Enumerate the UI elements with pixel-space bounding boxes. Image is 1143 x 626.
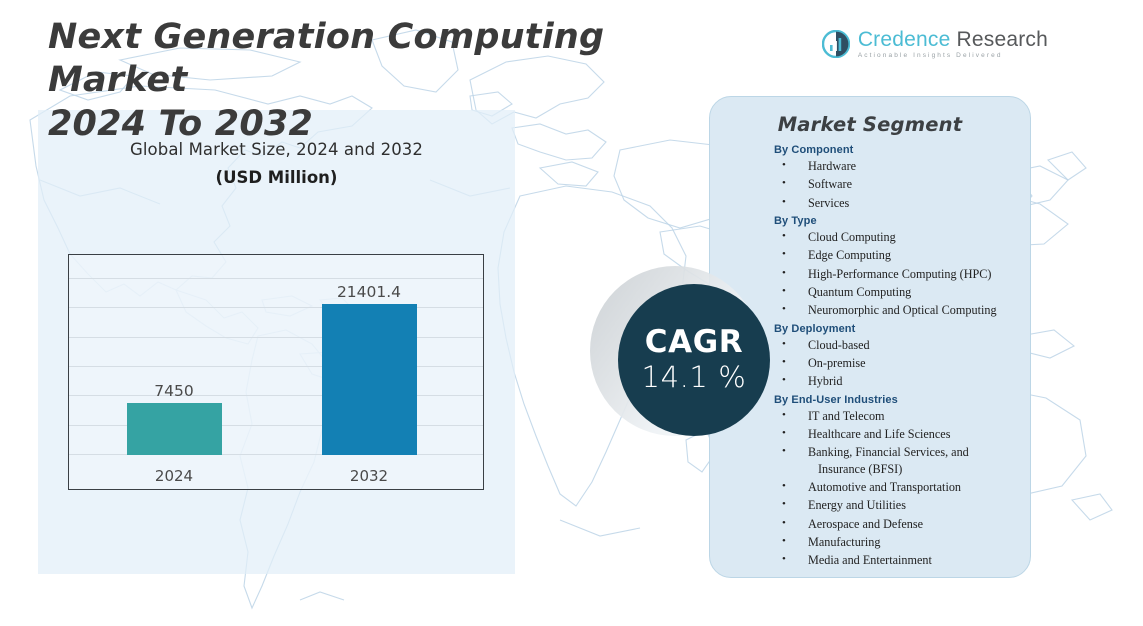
segment-group-heading: By End-User Industries [774,394,1016,406]
page-title-line-2: 2024 To 2032 [48,103,728,146]
segment-item[interactable]: Software [724,176,1016,193]
brand-name-secondary: Research [957,28,1048,51]
chart-bars: 7450202421401.42032 [69,279,483,455]
chart-bar-group: 74502024 [127,279,222,455]
segment-group-heading: By Type [774,215,1016,227]
segment-item[interactable]: Manufacturing [724,534,1016,551]
chart-category-label-2032: 2032 [292,467,447,485]
market-segment-title: Market Segment [724,113,1016,136]
chart-subtitle: (USD Million) [38,168,515,187]
segment-item[interactable]: Services [724,195,1016,212]
segment-item[interactable]: Media and Entertainment [724,552,1016,569]
brand-name-primary: Credence [858,28,951,51]
brand-name: Credence Research [858,29,1048,50]
segment-item[interactable]: Automotive and Transportation [724,479,1016,496]
segment-item[interactable]: Energy and Utilities [724,497,1016,514]
page-title-line-1: Next Generation Computing Market [48,16,728,103]
cagr-value: 14.1 % [642,360,747,394]
segment-item[interactable]: Aerospace and Defense [724,516,1016,533]
chart-bar-value-2024: 7450 [97,382,252,400]
cagr-label: CAGR [645,326,743,359]
page-title: Next Generation Computing Market 2024 To… [48,16,728,146]
chart-bar-2024 [127,403,222,455]
chart-bar-value-2032: 21401.4 [292,283,447,301]
bar-chart-circle-logo-icon [822,30,850,58]
segment-group: By ComponentHardwareSoftwareServices [724,144,1016,212]
market-size-chart-panel: Global Market Size, 2024 and 2032 (USD M… [38,110,515,574]
brand-logo-text: Credence Research Actionable Insights De… [858,29,1048,60]
cagr-circle: CAGR 14.1 % [618,284,770,436]
chart-bar-2032 [322,304,417,455]
chart-bar-group: 21401.42032 [322,279,417,455]
segment-group-heading: By Deployment [774,323,1016,335]
segment-item[interactable]: Hardware [724,158,1016,175]
cagr-badge: CAGR 14.1 % [590,266,790,466]
chart-plot-area: 7450202421401.42032 [68,254,484,490]
brand-logo: Credence Research Actionable Insights De… [822,29,1048,60]
chart-category-label-2024: 2024 [97,467,252,485]
segment-item-list: HardwareSoftwareServices [724,158,1016,212]
segment-item[interactable]: Edge Computing [724,247,1016,264]
brand-tagline: Actionable Insights Delivered [858,53,1048,60]
segment-group-heading: By Component [774,144,1016,156]
segment-item[interactable]: Cloud Computing [724,229,1016,246]
